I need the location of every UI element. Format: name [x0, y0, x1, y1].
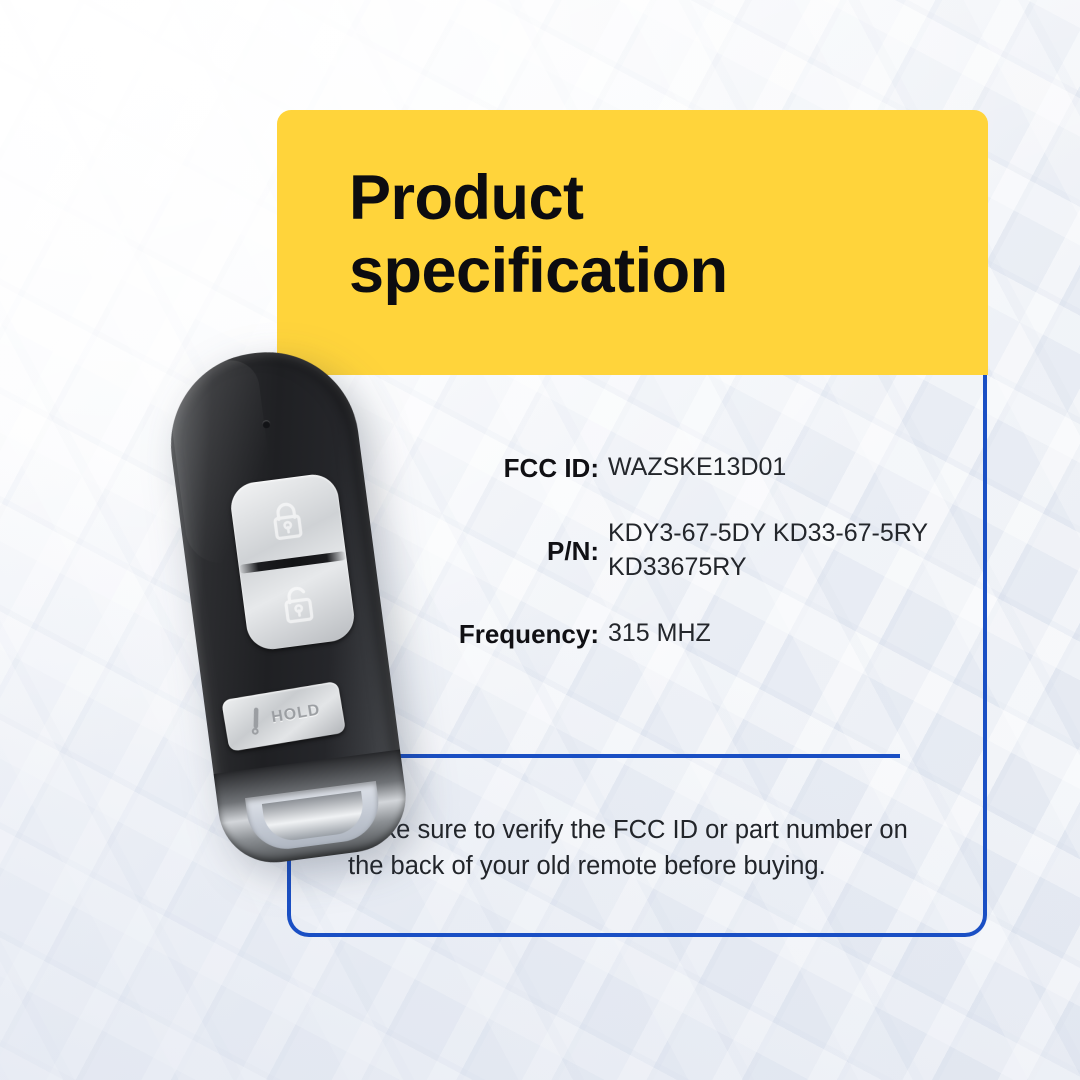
spec-row-frequency: Frequency: 315 MHZ: [440, 610, 960, 658]
product-specification-card: Product specification FCC ID: WAZSKE13D0…: [0, 0, 1080, 1080]
spec-value-frequency: 315 MHZ: [608, 617, 711, 651]
spec-value-part-number: KDY3-67-5DY KD33-67-5RY KD33675RY: [608, 517, 928, 585]
car-key-fob-image: HOLD: [106, 310, 514, 895]
page-title-line-1: Product: [349, 163, 584, 233]
fob-button-pad: [228, 472, 357, 653]
spec-value-fcc-id: WAZSKE13D01: [608, 451, 786, 485]
alarm-icon: [245, 704, 270, 737]
padlock-open-icon: [276, 580, 319, 627]
page-title-line-2: specification: [349, 236, 728, 306]
panic-button-label: HOLD: [270, 701, 322, 727]
page-title: Product specification: [349, 162, 949, 308]
spec-row-fcc-id: FCC ID: WAZSKE13D01: [440, 444, 960, 492]
spec-row-part-number: P/N: KDY3-67-5DY KD33-67-5RY KD33675RY: [440, 508, 960, 594]
unlock-button[interactable]: [239, 555, 357, 652]
specification-list: FCC ID: WAZSKE13D01 P/N: KDY3-67-5DY KD3…: [440, 444, 960, 674]
padlock-closed-icon: [265, 497, 308, 544]
